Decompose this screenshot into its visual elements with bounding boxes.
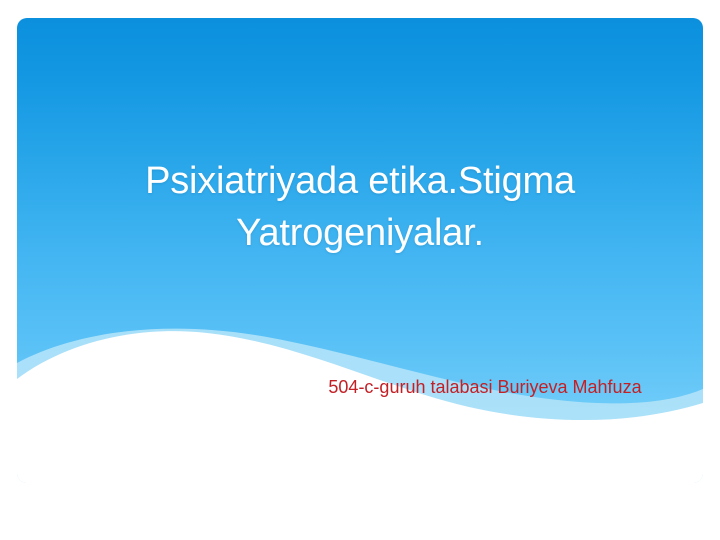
slide-title-text: Psixiatriyada etika.Stigma Yatrogeniyala…	[60, 155, 660, 259]
presentation-slide: Psixiatriyada etika.Stigma Yatrogeniyala…	[0, 0, 720, 540]
slide-title: Psixiatriyada etika.Stigma Yatrogeniyala…	[60, 155, 660, 259]
slide-subtitle-text: 504-c-guruh talabasi Buriyeva Mahfuza	[290, 374, 680, 400]
slide-subtitle: 504-c-guruh talabasi Buriyeva Mahfuza	[290, 374, 680, 400]
